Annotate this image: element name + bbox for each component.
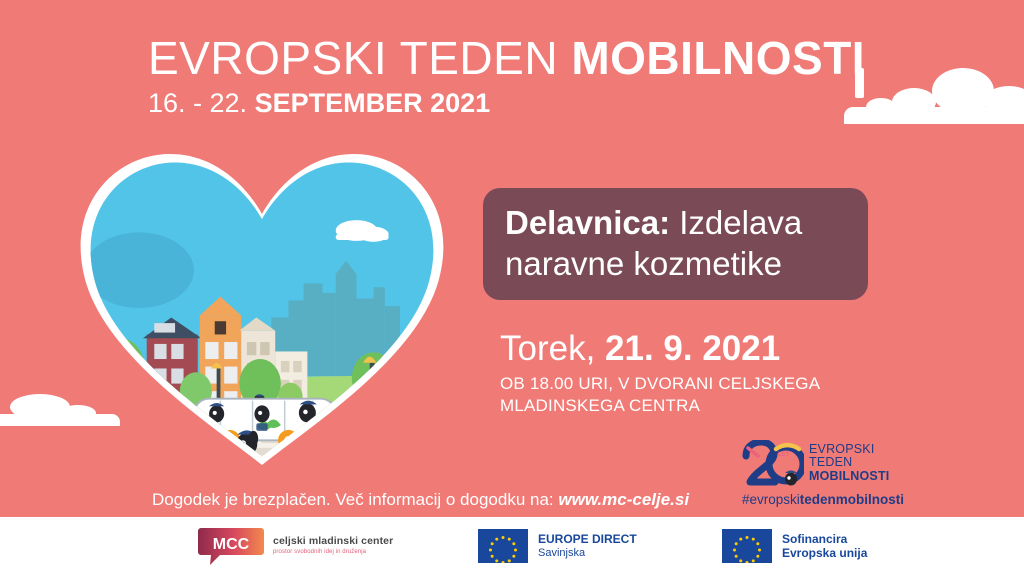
emw-logo-wordmark: EVROPSKI TEDEN MOBILNOSTI xyxy=(809,443,889,484)
mcc-mark-label: MCC xyxy=(213,536,250,553)
event-info-line: Dogodek je brezplačen. Več informacij o … xyxy=(152,489,689,511)
event-type-label: Delavnica: xyxy=(505,204,670,241)
mcc-name: celjski mladinski center xyxy=(273,535,393,547)
event-date: Torek, 21. 9. 2021 xyxy=(500,328,780,370)
poster-dates: 16. - 22. SEPTEMBER 2021 xyxy=(148,86,865,120)
venue-line-2: MLADINSKEGA CENTRA xyxy=(500,395,820,417)
europe-direct-title: EUROPE DIRECT xyxy=(538,532,637,546)
event-venue: OB 18.00 URI, V DVORANI CELJSKEGA MLADIN… xyxy=(500,373,820,417)
title-bold-part: MOBILNOSTI xyxy=(571,32,865,84)
dates-light-part: 16. - 22. xyxy=(148,88,255,118)
anniversary-let-label: LET xyxy=(778,452,790,458)
website-link[interactable]: www.mc-celje.si xyxy=(558,490,689,509)
hashtag-light-part: #evropski xyxy=(742,492,800,507)
event-title-text: Delavnica: Izdelava naravne kozmetike xyxy=(505,202,846,284)
logo-eu-funding: Sofinancira Evropska unija xyxy=(722,529,867,563)
heart-scene-svg xyxy=(62,140,462,470)
emw-word-line1: EVROPSKI xyxy=(809,443,889,457)
poster-header: EVROPSKI TEDEN MOBILNOSTI 16. - 22. SEPT… xyxy=(148,32,865,120)
european-mobility-week-logo: LET EVROPSKI TEDEN MOBILNOSTI #evropskit… xyxy=(742,440,890,512)
eu-funding-line2: Evropska unija xyxy=(782,546,867,560)
free-event-text: Dogodek je brezplačen. Več informacij o … xyxy=(152,490,558,509)
event-title-badge: Delavnica: Izdelava naravne kozmetike xyxy=(483,188,868,300)
event-day-label: Torek, xyxy=(500,329,605,368)
europe-direct-subtitle: Savinjska xyxy=(538,546,637,560)
event-date-value: 21. 9. 2021 xyxy=(605,329,780,368)
logo-mcc: MCC celjski mladinski center prostor svo… xyxy=(198,526,393,566)
venue-line-1: OB 18.00 URI, V DVORANI CELJSKEGA xyxy=(500,373,820,395)
title-light-part: EVROPSKI TEDEN xyxy=(148,32,571,84)
eu-funding-line1: Sofinancira xyxy=(782,532,867,546)
hashtag-bold-part: tedenmobilnosti xyxy=(800,492,904,507)
sponsor-footer: MCC celjski mladinski center prostor svo… xyxy=(0,517,1024,576)
mcc-speech-bubble-icon: MCC xyxy=(198,526,264,566)
emw-word-line3: MOBILNOSTI xyxy=(809,470,889,484)
dates-bold-part: SEPTEMBER 2021 xyxy=(255,88,491,118)
emw-hashtag: #evropskitedenmobilnosti xyxy=(742,492,890,507)
eu-flag-icon xyxy=(478,529,528,563)
heart-illustration xyxy=(62,140,462,470)
page-title: EVROPSKI TEDEN MOBILNOSTI xyxy=(148,32,865,84)
anniversary-20-icon: LET xyxy=(742,440,804,486)
logo-europe-direct: EUROPE DIRECT Savinjska xyxy=(478,529,637,563)
emw-word-line2: TEDEN xyxy=(809,456,889,470)
poster-canvas: EVROPSKI TEDEN MOBILNOSTI 16. - 22. SEPT… xyxy=(0,0,1024,576)
cloud-top-right-icon xyxy=(844,78,1024,124)
eu-flag-icon-funding xyxy=(722,529,772,563)
mcc-tagline: prostor svobodnih idej in druženja xyxy=(273,548,393,556)
